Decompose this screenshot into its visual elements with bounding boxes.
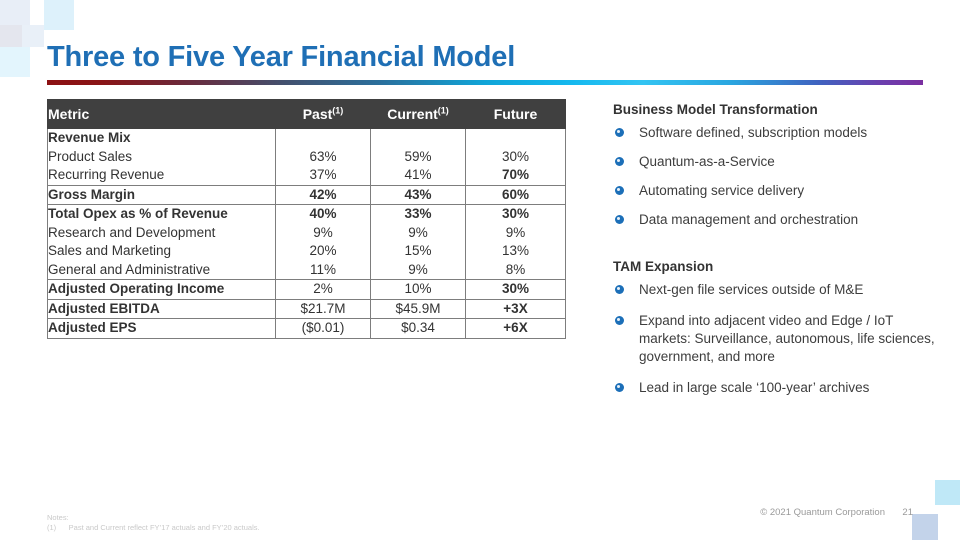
table-row: Total Opex as % of Revenue 40% 33% 30%	[48, 205, 566, 224]
page-title: Three to Five Year Financial Model	[47, 41, 515, 74]
row-label: Product Sales	[48, 148, 276, 167]
cell-current: 10%	[371, 280, 466, 300]
cell-future: 13%	[466, 242, 566, 261]
cell-current: $45.9M	[371, 299, 466, 319]
table-row: Sales and Marketing 20% 15% 13%	[48, 242, 566, 261]
bullet-list: Next-gen file services outside of M&E Ex…	[613, 281, 943, 397]
cell-future: 30%	[466, 280, 566, 300]
table-group-adjusted-eps: Adjusted EPS ($0.01) $0.34 +6X	[48, 319, 566, 339]
bullet-icon	[615, 383, 624, 392]
row-label: Recurring Revenue	[48, 166, 276, 185]
row-label: Research and Development	[48, 224, 276, 243]
cell-current: $0.34	[371, 319, 466, 339]
section-heading: TAM Expansion	[613, 259, 943, 274]
bullet-icon	[615, 285, 624, 294]
row-label: Gross Margin	[48, 185, 276, 205]
row-label: Sales and Marketing	[48, 242, 276, 261]
row-label: Adjusted EPS	[48, 319, 276, 339]
cell-future	[466, 129, 566, 148]
cell-current	[371, 129, 466, 148]
table-header-row: Metric Past(1) Current(1) Future	[48, 100, 566, 129]
cell-current: 9%	[371, 224, 466, 243]
list-item-label: Data management and orchestration	[639, 212, 858, 227]
cell-future: 8%	[466, 261, 566, 280]
row-label: General and Administrative	[48, 261, 276, 280]
cell-future: 30%	[466, 148, 566, 167]
table-group-adjusted-ebitda: Adjusted EBITDA $21.7M $45.9M +3X	[48, 299, 566, 319]
cell-past	[276, 129, 371, 148]
col-header-metric: Metric	[48, 100, 276, 129]
deco-square	[0, 47, 30, 77]
bullet-icon	[615, 128, 624, 137]
bullet-icon	[615, 157, 624, 166]
deco-square	[0, 25, 22, 47]
footnotes: Notes: (1) Past and Current reflect FY’1…	[47, 513, 260, 533]
cell-past: 37%	[276, 166, 371, 185]
section-heading: Business Model Transformation	[613, 102, 943, 117]
section-business-model-transformation: Business Model Transformation Software d…	[613, 102, 943, 229]
list-item-label: Automating service delivery	[639, 183, 804, 198]
bullet-list: Software defined, subscription models Qu…	[613, 124, 943, 229]
bullet-icon	[615, 316, 624, 325]
note-1: (1) Past and Current reflect FY’17 actua…	[47, 523, 260, 533]
cell-future: +6X	[466, 319, 566, 339]
list-item: Software defined, subscription models	[613, 124, 943, 142]
cell-future: +3X	[466, 299, 566, 319]
cell-current: 15%	[371, 242, 466, 261]
table-row: Adjusted Operating Income 2% 10% 30%	[48, 280, 566, 300]
deco-square	[935, 480, 960, 505]
cell-future: 9%	[466, 224, 566, 243]
cell-past: 63%	[276, 148, 371, 167]
cell-past: ($0.01)	[276, 319, 371, 339]
cell-past: 2%	[276, 280, 371, 300]
cell-future: 30%	[466, 205, 566, 224]
list-item: Data management and orchestration	[613, 211, 943, 229]
col-header-future: Future	[466, 100, 566, 129]
list-item: Lead in large scale ‘100-year’ archives	[613, 379, 943, 397]
cell-future: 60%	[466, 185, 566, 205]
table-row: Revenue Mix	[48, 129, 566, 148]
deco-square	[912, 514, 938, 540]
col-header-past: Past(1)	[276, 100, 371, 129]
cell-current: 43%	[371, 185, 466, 205]
list-item: Quantum-as-a-Service	[613, 153, 943, 171]
cell-past: 9%	[276, 224, 371, 243]
table-row: General and Administrative 11% 9% 8%	[48, 261, 566, 280]
row-label: Total Opex as % of Revenue	[48, 205, 276, 224]
table-row: Adjusted EBITDA $21.7M $45.9M +3X	[48, 299, 566, 319]
title-gradient-rule	[47, 80, 923, 85]
cell-current: 9%	[371, 261, 466, 280]
bullet-icon	[615, 186, 624, 195]
list-item-label: Expand into adjacent video and Edge / Io…	[639, 313, 935, 364]
cell-current: 41%	[371, 166, 466, 185]
col-header-current: Current(1)	[371, 100, 466, 129]
notes-label: Notes:	[47, 513, 260, 523]
table-row: Adjusted EPS ($0.01) $0.34 +6X	[48, 319, 566, 339]
cell-past: 40%	[276, 205, 371, 224]
list-item-label: Quantum-as-a-Service	[639, 154, 775, 169]
deco-square	[22, 25, 44, 47]
list-item-label: Next-gen file services outside of M&E	[639, 282, 863, 297]
section-tam-expansion: TAM Expansion Next-gen file services out…	[613, 259, 943, 397]
cell-past: 20%	[276, 242, 371, 261]
table-group-revenue-mix: Revenue Mix Product Sales 63% 59% 30% Re…	[48, 129, 566, 186]
page-number: 21	[902, 507, 913, 518]
table-row: Product Sales 63% 59% 30%	[48, 148, 566, 167]
deco-square	[44, 0, 74, 30]
row-label: Adjusted EBITDA	[48, 299, 276, 319]
table-row: Gross Margin 42% 43% 60%	[48, 185, 566, 205]
list-item: Expand into adjacent video and Edge / Io…	[613, 312, 943, 366]
cell-current: 33%	[371, 205, 466, 224]
list-item-label: Software defined, subscription models	[639, 125, 867, 140]
right-panel: Business Model Transformation Software d…	[613, 102, 943, 410]
table-group-adjusted-operating-income: Adjusted Operating Income 2% 10% 30%	[48, 280, 566, 300]
cell-past: 11%	[276, 261, 371, 280]
table-group-opex: Total Opex as % of Revenue 40% 33% 30% R…	[48, 205, 566, 280]
list-item: Next-gen file services outside of M&E	[613, 281, 943, 299]
row-label: Revenue Mix	[48, 129, 276, 148]
list-item: Automating service delivery	[613, 182, 943, 200]
copyright-text: © 2021 Quantum Corporation	[760, 507, 885, 518]
bullet-icon	[615, 215, 624, 224]
cell-current: 59%	[371, 148, 466, 167]
cell-past: $21.7M	[276, 299, 371, 319]
table-row: Recurring Revenue 37% 41% 70%	[48, 166, 566, 185]
cell-past: 42%	[276, 185, 371, 205]
row-label: Adjusted Operating Income	[48, 280, 276, 300]
table-group-gross-margin: Gross Margin 42% 43% 60%	[48, 185, 566, 205]
table-row: Research and Development 9% 9% 9%	[48, 224, 566, 243]
cell-future: 70%	[466, 166, 566, 185]
financial-model-table: Metric Past(1) Current(1) Future Revenue…	[47, 99, 566, 339]
list-item-label: Lead in large scale ‘100-year’ archives	[639, 380, 869, 395]
